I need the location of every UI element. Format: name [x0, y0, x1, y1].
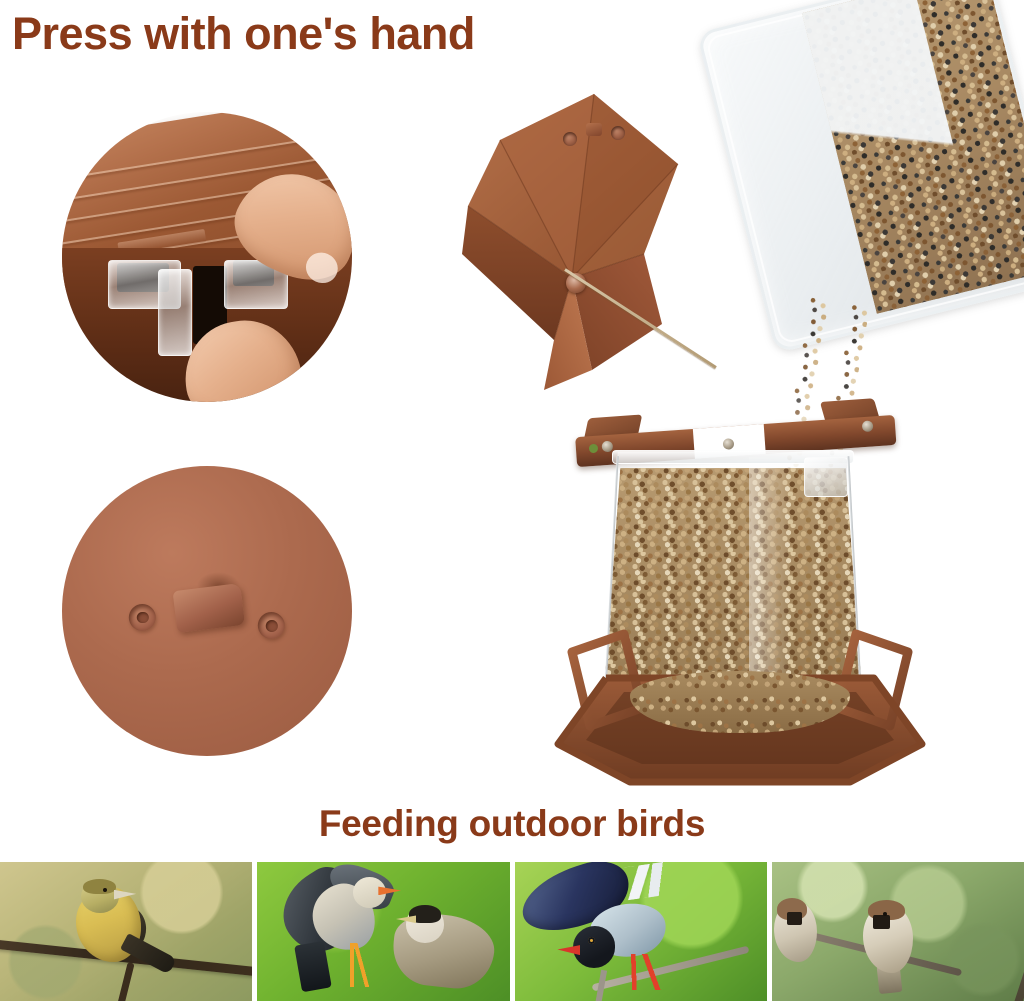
roof-center-tab [586, 123, 602, 136]
ring-knob-left [129, 604, 156, 631]
bird-photo-strip [0, 862, 1024, 1001]
bird-legs [333, 943, 373, 987]
inset-photo-press-roof [62, 112, 352, 402]
ring-knob-right [258, 612, 285, 639]
branch-fork [114, 962, 134, 1001]
bird-legs [615, 954, 670, 990]
seed-pour-container [697, 0, 1024, 353]
bird-crown [83, 879, 116, 894]
bird-cheek-patch-left [787, 912, 802, 925]
bird-cheek-patch-right [873, 915, 891, 929]
bird-photo-blue-magpie [515, 862, 767, 1001]
bird-photo-sparrows [772, 862, 1024, 1001]
product-photo-main [420, 0, 1024, 800]
page-title: Press with one's hand [12, 8, 475, 60]
bird-wing-tips [608, 862, 678, 903]
section-caption: Feeding outdoor birds [0, 803, 1024, 845]
branch-vertical [1012, 889, 1024, 1001]
bird-eye [588, 937, 595, 944]
bird-photo-starlings [257, 862, 509, 1001]
bracket-screw [601, 441, 613, 453]
infographic-page: Press with one's hand [0, 0, 1024, 1001]
bird-photo-greenfinch [0, 862, 252, 1001]
bird-eye-right [883, 912, 887, 916]
feeder-base-tray [550, 612, 930, 792]
clear-clip [158, 269, 193, 356]
roof-screw-right [611, 126, 625, 140]
inset-photo-roof-underside [62, 466, 352, 756]
feeder-roof [448, 78, 698, 398]
locking-tab [172, 583, 245, 633]
chamber-latch [804, 457, 848, 497]
roof-lock-assembly [126, 582, 288, 640]
